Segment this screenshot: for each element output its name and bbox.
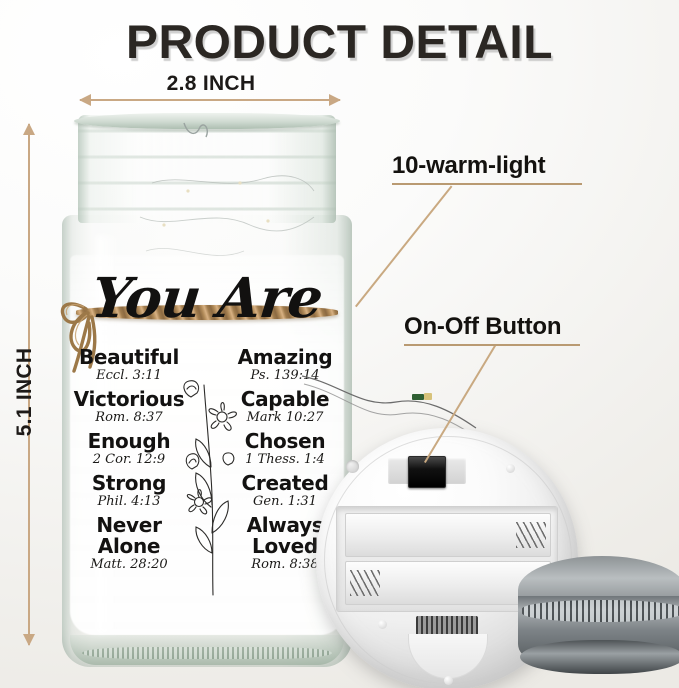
verse-word: Capable	[226, 389, 344, 410]
metal-jar-lid	[518, 556, 679, 684]
verse-word: Never Alone	[70, 515, 188, 557]
verse-row: Victorious Rom. 8:37 Capable Mark 10:27	[70, 389, 344, 426]
verse-word: Victorious	[70, 389, 188, 410]
product-detail-image: PRODUCT DETAIL 2.8 INCH 5.1 INCH	[0, 0, 679, 688]
cap-dot	[378, 620, 387, 629]
cap-screw	[346, 460, 359, 473]
verse-cell-left: Enough 2 Cor. 12:9	[70, 431, 188, 468]
verse-reference: Matt. 28:20	[70, 557, 188, 573]
annotation-label: On-Off Button	[404, 313, 580, 341]
verse-reference: Rom. 8:37	[70, 410, 188, 426]
verse-reference: Phil. 4:13	[70, 494, 188, 510]
width-dimension-label: 2.8 INCH	[80, 72, 342, 96]
verse-reference: 1 Thess. 1:4	[226, 452, 344, 468]
verse-row: Beautiful Eccl. 3:11 Amazing Ps. 139:14	[70, 347, 344, 384]
verse-word: Strong	[70, 473, 188, 494]
verse-row: Strong Phil. 4:13 Created Gen. 1:31	[70, 473, 344, 510]
lid-knurled-ring	[522, 600, 679, 622]
leader-line-warm-light	[355, 185, 452, 307]
verse-reference: Eccl. 3:11	[70, 368, 188, 384]
verse-reference: Ps. 139:14	[226, 368, 344, 384]
verse-cell-left: Never Alone Matt. 28:20	[70, 515, 188, 573]
battery-spring	[516, 522, 546, 548]
verse-word: Beautiful	[70, 347, 188, 368]
verse-cell-right: Created Gen. 1:31	[226, 473, 344, 510]
annotation-on-off-button: On-Off Button	[404, 313, 580, 346]
verse-cell-right: Amazing Ps. 139:14	[226, 347, 344, 384]
page-title: PRODUCT DETAIL	[0, 14, 679, 69]
verse-cell-left: Strong Phil. 4:13	[70, 473, 188, 510]
verse-row: Never Alone Matt. 28:20 Always Loved Rom…	[70, 515, 344, 573]
jar-label-text: You Are	[70, 265, 344, 605]
height-dimension-label: 5.1 INCH	[13, 302, 37, 482]
battery-spring	[350, 570, 380, 596]
verse-word: Created	[226, 473, 344, 494]
annotation-rule	[392, 183, 582, 185]
annotation-label: 10-warm-light	[392, 152, 582, 180]
verse-cell-left: Victorious Rom. 8:37	[70, 389, 188, 426]
verse-table: Beautiful Eccl. 3:11 Amazing Ps. 139:14 …	[70, 347, 344, 578]
label-heading: You Are	[67, 265, 348, 330]
mason-jar-product: You Are	[62, 115, 352, 667]
battery-slot	[345, 513, 551, 557]
cap-dot	[444, 676, 453, 685]
verse-reference: Mark 10:27	[226, 410, 344, 426]
annotation-warm-light: 10-warm-light	[392, 152, 582, 185]
verse-cell-right: Capable Mark 10:27	[226, 389, 344, 426]
lid-bottom-edge	[520, 640, 679, 674]
verse-word: Amazing	[226, 347, 344, 368]
width-dimension-arrow	[80, 99, 340, 101]
annotation-rule	[404, 344, 580, 346]
jar-base-ring	[82, 647, 332, 659]
verse-reference: 2 Cor. 12:9	[70, 452, 188, 468]
verse-word: Enough	[70, 431, 188, 452]
verse-cell-left: Beautiful Eccl. 3:11	[70, 347, 188, 384]
verse-cell-right: Chosen 1 Thess. 1:4	[226, 431, 344, 468]
cap-dot	[506, 464, 515, 473]
verse-word: Chosen	[226, 431, 344, 452]
jar-rim	[74, 113, 340, 129]
jar-neck-threads	[78, 115, 336, 223]
verse-row: Enough 2 Cor. 12:9 Chosen 1 Thess. 1:4	[70, 431, 344, 468]
